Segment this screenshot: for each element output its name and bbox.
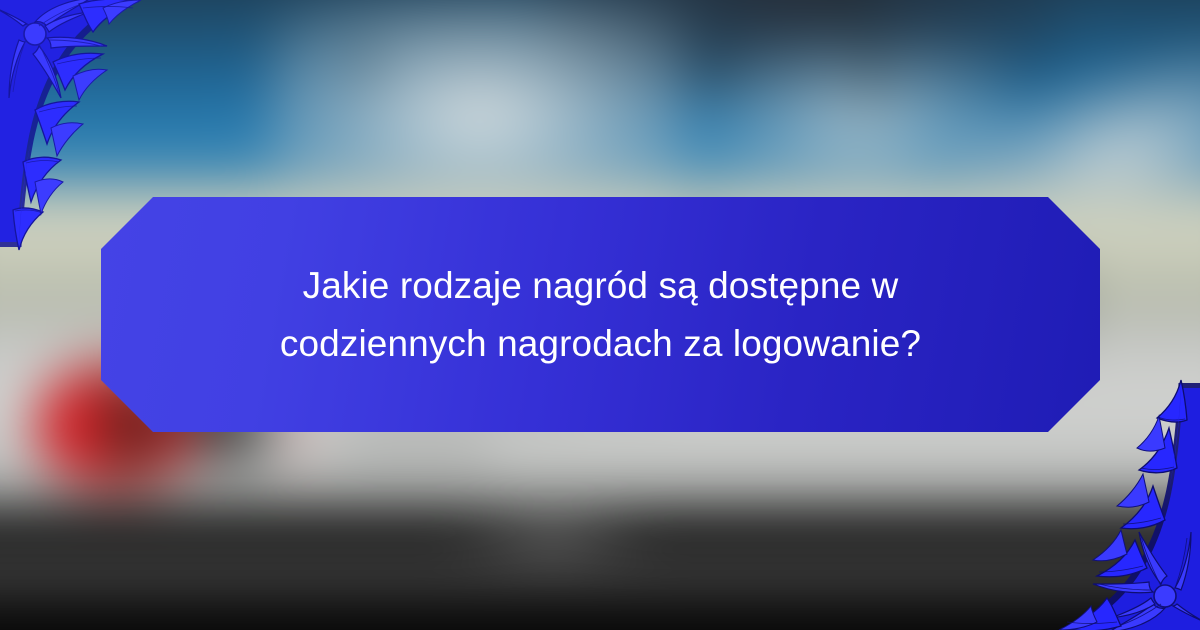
background-pole (845, 0, 861, 30)
question-text: Jakie rodzaje nagród są dostępne w codzi… (280, 257, 921, 373)
background-pole (710, 55, 720, 100)
question-banner: Jakie rodzaje nagród są dostępne w codzi… (101, 197, 1100, 432)
background-smudge (460, 515, 645, 555)
og-question-card: Jakie rodzaje nagród są dostępne w codzi… (0, 0, 1200, 630)
background-pole (360, 50, 370, 90)
background-black-bar (0, 555, 1200, 630)
background-pole (865, 45, 876, 125)
background-text-row (340, 442, 490, 460)
